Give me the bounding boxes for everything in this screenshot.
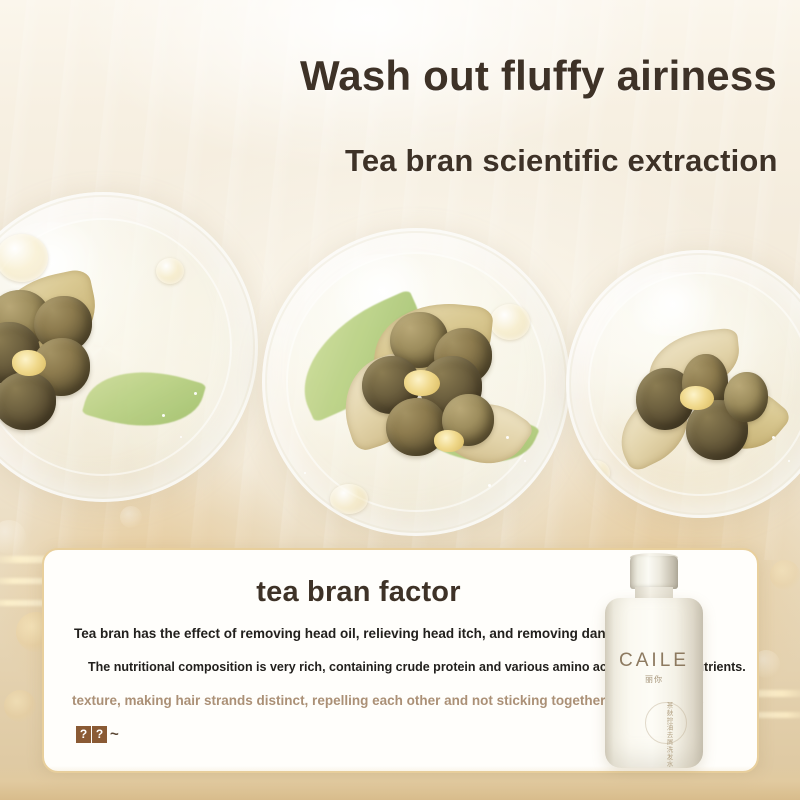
bubble-right [566, 250, 800, 518]
bubble-center [262, 228, 570, 536]
missing-glyph-icon: ? [76, 726, 91, 743]
missing-glyph-icon: ? [92, 726, 107, 743]
badge-suffix: ~ [110, 726, 119, 743]
product-bottle: CAILE 丽你 茶麸控油去屑洗发水 [596, 556, 712, 768]
page-title: Wash out fluffy airiness [300, 52, 777, 100]
brand-subtitle: 丽你 [605, 674, 703, 685]
bottle-cap [630, 556, 678, 589]
page-subtitle: Tea bran scientific extraction [345, 143, 778, 179]
brand-name: CAILE [605, 650, 703, 672]
bottle-body: CAILE 丽你 茶麸控油去屑洗发水 [605, 598, 703, 768]
badge-missing-glyphs: ? ? ~ [76, 726, 119, 743]
bubble-left [0, 192, 258, 502]
bottle-label-text: 茶麸控油去屑洗发水 [657, 702, 673, 776]
background-shelf [0, 766, 800, 800]
bubble-rim [262, 228, 570, 536]
advertisement-canvas: Wash out fluffy airiness Tea bran scient… [0, 0, 800, 800]
